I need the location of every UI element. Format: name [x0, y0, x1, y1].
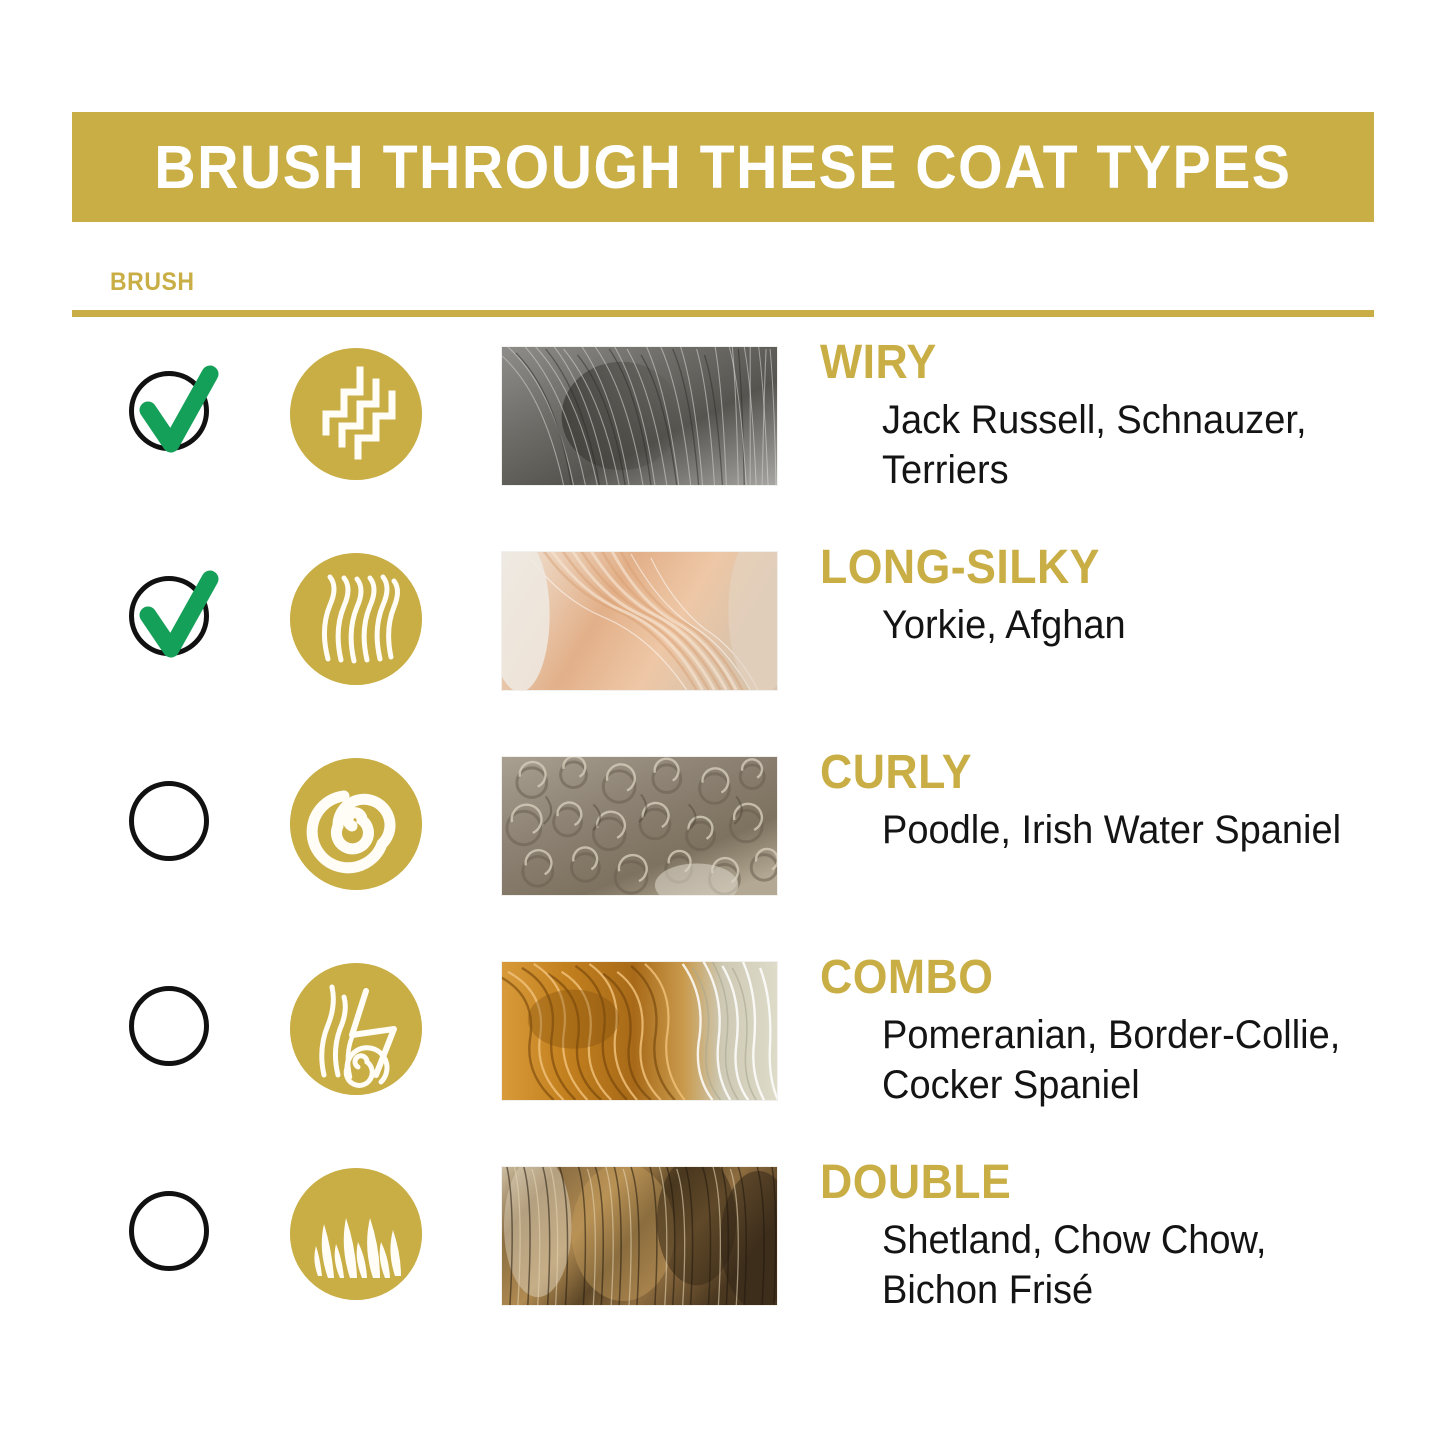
checkbox-circle: [129, 1191, 209, 1271]
column-header-brush: BRUSH: [110, 268, 195, 297]
infographic-page: BRUSH THROUGH THESE COAT TYPES BRUSH: [0, 0, 1445, 1445]
double-coat-photo: [501, 1166, 778, 1306]
brush-checkbox[interactable]: [118, 762, 238, 882]
coat-breed-list: Poodle, Irish Water Spaniel: [882, 806, 1393, 855]
long-silky-coat-icon: [290, 553, 422, 685]
brush-checkbox[interactable]: [118, 352, 238, 472]
coat-type-title: LONG-SILKY: [820, 543, 1378, 593]
wiry-coat-icon: [290, 348, 422, 480]
page-title: BRUSH THROUGH THESE COAT TYPES: [154, 137, 1291, 198]
coat-text-block: COMBO Pomeranian, Border-Collie, Cocker …: [820, 953, 1420, 1110]
wiry-coat-photo: [501, 346, 778, 486]
coat-type-title: WIRY: [820, 338, 1378, 388]
coat-type-title: CURLY: [820, 748, 1378, 798]
curly-coat-photo: [501, 756, 778, 896]
coat-breed-list: Yorkie, Afghan: [882, 601, 1393, 650]
list-item: WIRY Jack Russell, Schnauzer, Terriers: [0, 338, 1445, 543]
checkmark-icon: [118, 352, 238, 472]
coat-breed-list: Pomeranian, Border-Collie, Cocker Spanie…: [882, 1011, 1393, 1109]
double-coat-icon: [290, 1168, 422, 1300]
checkmark-icon: [118, 557, 238, 677]
header-divider: [72, 310, 1374, 317]
brush-checkbox[interactable]: [118, 967, 238, 1087]
curly-coat-icon: [290, 758, 422, 890]
list-item: COMBO Pomeranian, Border-Collie, Cocker …: [0, 953, 1445, 1158]
coat-type-list: WIRY Jack Russell, Schnauzer, Terriers: [0, 338, 1445, 1363]
coat-text-block: WIRY Jack Russell, Schnauzer, Terriers: [820, 338, 1420, 495]
long-silky-coat-photo: [501, 551, 778, 691]
list-item: CURLY Poodle, Irish Water Spaniel: [0, 748, 1445, 953]
coat-type-title: DOUBLE: [820, 1158, 1378, 1208]
checkbox-circle: [129, 986, 209, 1066]
combo-coat-icon: [290, 963, 422, 1095]
coat-type-title: COMBO: [820, 953, 1378, 1003]
coat-breed-list: Shetland, Chow Chow, Bichon Frisé: [882, 1216, 1393, 1314]
list-item: LONG-SILKY Yorkie, Afghan: [0, 543, 1445, 748]
coat-breed-list: Jack Russell, Schnauzer, Terriers: [882, 396, 1393, 494]
coat-text-block: DOUBLE Shetland, Chow Chow, Bichon Frisé: [820, 1158, 1420, 1315]
header-banner: BRUSH THROUGH THESE COAT TYPES: [72, 112, 1374, 222]
combo-coat-photo: [501, 961, 778, 1101]
coat-text-block: LONG-SILKY Yorkie, Afghan: [820, 543, 1420, 651]
list-item: DOUBLE Shetland, Chow Chow, Bichon Frisé: [0, 1158, 1445, 1363]
checkbox-circle: [129, 781, 209, 861]
coat-text-block: CURLY Poodle, Irish Water Spaniel: [820, 748, 1420, 856]
brush-checkbox[interactable]: [118, 557, 238, 677]
brush-checkbox[interactable]: [118, 1172, 238, 1292]
